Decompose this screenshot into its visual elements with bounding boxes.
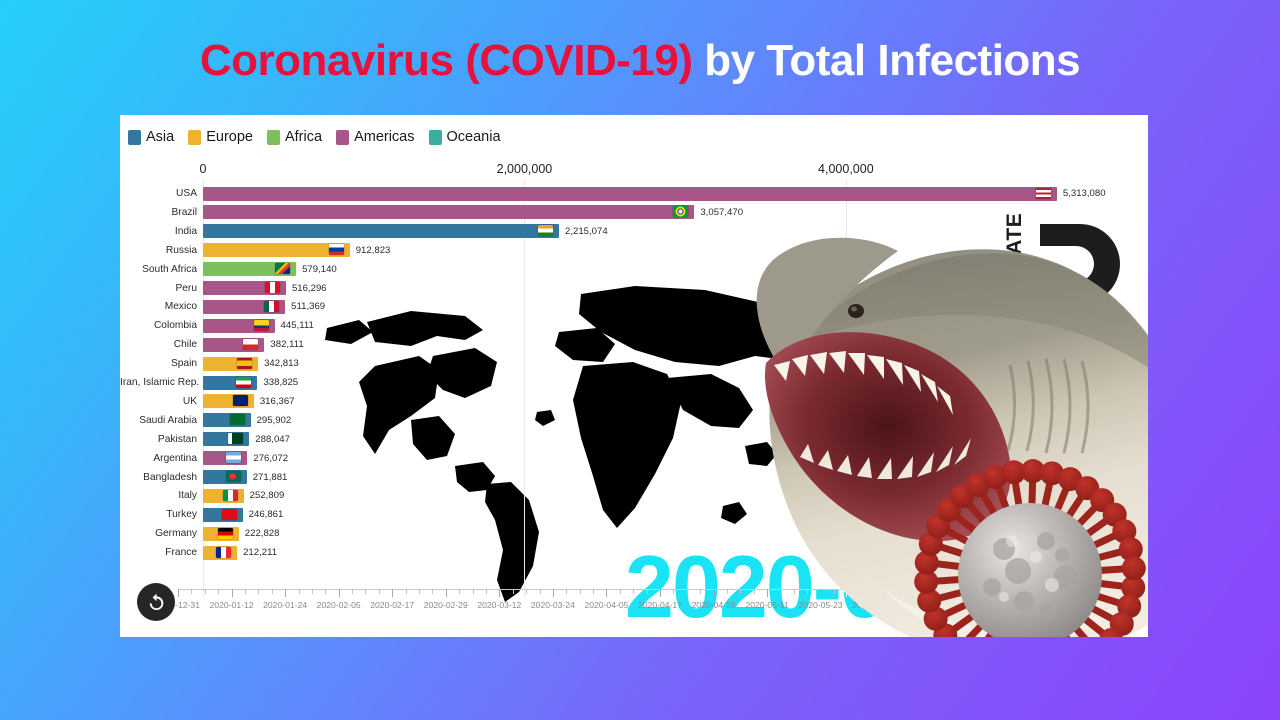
timeline-tick bbox=[1088, 589, 1089, 597]
timeline-label: 2020-07-22 bbox=[1066, 600, 1110, 610]
timeline-minor-tick bbox=[513, 589, 514, 594]
timeline-minor-tick bbox=[272, 589, 273, 594]
country-flag-icon bbox=[329, 244, 344, 255]
bar-value-label: 276,072 bbox=[253, 450, 288, 467]
legend-item-africa[interactable]: Africa bbox=[267, 129, 322, 145]
legend-label: Asia bbox=[146, 129, 174, 145]
bar-row[interactable]: Iran, Islamic Rep.338,825 bbox=[120, 374, 1148, 391]
timeline-tick bbox=[339, 589, 340, 597]
timeline-label: 2020-04-29 bbox=[692, 600, 736, 610]
timeline-label: 2020-04-17 bbox=[638, 600, 682, 610]
bar-row-label: UK bbox=[120, 393, 197, 410]
country-flag-icon bbox=[265, 282, 280, 293]
timeline-minor-tick bbox=[593, 589, 594, 594]
title-highlight: Coronavirus (COVID-19) bbox=[200, 36, 693, 85]
timeline-minor-tick bbox=[1048, 589, 1049, 594]
timeline-label: 2020-06-04 bbox=[852, 600, 896, 610]
bar-value-label: 516,296 bbox=[292, 280, 327, 297]
country-flag-icon bbox=[218, 528, 233, 539]
bar-value-label: 5,313,080 bbox=[1063, 185, 1106, 202]
timeline-minor-tick bbox=[1129, 589, 1130, 594]
bar-row-label: Turkey bbox=[120, 506, 197, 523]
timeline-minor-tick bbox=[365, 589, 366, 594]
bar-row[interactable]: Germany222,828 bbox=[120, 525, 1148, 542]
timeline-label: 2020-08-03 bbox=[1120, 600, 1148, 610]
bar-row-label: South Africa bbox=[120, 261, 197, 278]
country-flag-icon bbox=[223, 490, 238, 501]
country-flag-icon bbox=[236, 377, 251, 388]
timeline-label: 2020-03-12 bbox=[477, 600, 521, 610]
legend-swatch-icon bbox=[429, 130, 442, 145]
timeline-label: 2020-06-16 bbox=[906, 600, 950, 610]
timeline-minor-tick bbox=[245, 589, 246, 594]
timeline-minor-tick bbox=[258, 589, 259, 594]
timeline-label: 2020-02-29 bbox=[424, 600, 468, 610]
timeline-tick bbox=[1035, 589, 1036, 597]
timeline-tick bbox=[606, 589, 607, 597]
title-rest: by Total Infections bbox=[692, 36, 1080, 85]
legend-swatch-icon bbox=[267, 130, 280, 145]
timeline-label: 2020-06-28 bbox=[959, 600, 1003, 610]
timeline-minor-tick bbox=[432, 589, 433, 594]
country-flag-icon bbox=[226, 452, 241, 463]
redate-r-mark bbox=[1020, 222, 1124, 334]
bar-row[interactable]: Argentina276,072 bbox=[120, 450, 1148, 467]
timeline-minor-tick bbox=[299, 589, 300, 594]
timeline-minor-tick bbox=[205, 589, 206, 594]
bar-row-label: Iran, Islamic Rep. bbox=[120, 374, 197, 391]
legend-label: Africa bbox=[285, 129, 322, 145]
chart-panel: 2020-08-05 Total: 19,971,071 AsiaEuropeA… bbox=[120, 115, 1148, 637]
timeline-minor-tick bbox=[1022, 589, 1023, 594]
timeline-label: 2020-01-24 bbox=[263, 600, 307, 610]
timeline-tick bbox=[660, 589, 661, 597]
timeline-minor-tick bbox=[673, 589, 674, 594]
timeline-minor-tick bbox=[847, 589, 848, 594]
bar-row-label: Peru bbox=[120, 280, 197, 297]
timeline-minor-tick bbox=[1115, 589, 1116, 594]
timeline-minor-tick bbox=[526, 589, 527, 594]
bar-row-label: Colombia bbox=[120, 317, 197, 334]
timeline-minor-tick bbox=[191, 589, 192, 594]
x-tick-label: 2,000,000 bbox=[497, 162, 553, 176]
country-flag-icon bbox=[243, 339, 258, 350]
x-tick-label: 4,000,000 bbox=[818, 162, 874, 176]
bar bbox=[203, 243, 350, 257]
timeline-minor-tick bbox=[740, 589, 741, 594]
country-flag-icon bbox=[222, 509, 237, 520]
timeline-minor-tick bbox=[781, 589, 782, 594]
timeline-minor-tick bbox=[647, 589, 648, 594]
timeline-tick bbox=[981, 589, 982, 597]
bar bbox=[203, 224, 559, 238]
timeline-tick bbox=[928, 589, 929, 597]
bar-value-label: 246,861 bbox=[249, 506, 284, 523]
country-flag-icon bbox=[538, 225, 553, 236]
page-title: Coronavirus (COVID-19) by Total Infectio… bbox=[0, 36, 1280, 86]
bar-row[interactable]: USA5,313,080 bbox=[120, 185, 1148, 202]
timeline-minor-tick bbox=[459, 589, 460, 594]
bar-value-label: 579,140 bbox=[302, 261, 337, 278]
timeline-tick bbox=[178, 589, 179, 597]
bar-value-label: 288,047 bbox=[255, 431, 290, 448]
bar-row[interactable]: UK316,367 bbox=[120, 393, 1148, 410]
bar-row[interactable]: Brazil3,057,470 bbox=[120, 204, 1148, 221]
bar-row-label: Spain bbox=[120, 355, 197, 372]
bar-row[interactable]: Italy252,809 bbox=[120, 487, 1148, 504]
timeline-tick bbox=[821, 589, 822, 597]
timeline-minor-tick bbox=[914, 589, 915, 594]
timeline-minor-tick bbox=[1075, 589, 1076, 594]
bar-row-label: India bbox=[120, 223, 197, 240]
timeline-minor-tick bbox=[325, 589, 326, 594]
timeline-minor-tick bbox=[754, 589, 755, 594]
country-flag-icon bbox=[254, 320, 269, 331]
timeline-minor-tick bbox=[580, 589, 581, 594]
timeline-minor-tick bbox=[834, 589, 835, 594]
country-flag-icon bbox=[230, 414, 245, 425]
timeline-tick bbox=[499, 589, 500, 597]
replay-icon bbox=[146, 592, 167, 613]
bar-row-label: Russia bbox=[120, 242, 197, 259]
bar-row-label: Chile bbox=[120, 336, 197, 353]
timeline-tick bbox=[232, 589, 233, 597]
x-tick-label: 0 bbox=[200, 162, 207, 176]
timeline-tick bbox=[392, 589, 393, 597]
legend-item-europe[interactable]: Europe bbox=[188, 129, 253, 145]
timeline-minor-tick bbox=[700, 589, 701, 594]
timeline-minor-tick bbox=[352, 589, 353, 594]
legend-swatch-icon bbox=[128, 130, 141, 145]
bar-row[interactable]: Pakistan288,047 bbox=[120, 431, 1148, 448]
timeline-minor-tick bbox=[379, 589, 380, 594]
timeline-minor-tick bbox=[419, 589, 420, 594]
bar-row-label: Argentina bbox=[120, 450, 197, 467]
bar-row[interactable]: France212,211 bbox=[120, 544, 1148, 561]
bar bbox=[203, 205, 694, 219]
timeline-minor-tick bbox=[1062, 589, 1063, 594]
bar-value-label: 295,902 bbox=[257, 412, 292, 429]
timeline-minor-tick bbox=[566, 589, 567, 594]
bar-row-label: Italy bbox=[120, 487, 197, 504]
timeline-minor-tick bbox=[473, 589, 474, 594]
timeline-minor-tick bbox=[620, 589, 621, 594]
legend-swatch-icon bbox=[188, 130, 201, 145]
bar-row-label: Pakistan bbox=[120, 431, 197, 448]
bar-value-label: 445,111 bbox=[281, 317, 314, 334]
bar-row-label: France bbox=[120, 544, 197, 561]
bar-value-label: 3,057,470 bbox=[700, 204, 743, 221]
timeline-minor-tick bbox=[807, 589, 808, 594]
bar-row[interactable]: Turkey246,861 bbox=[120, 506, 1148, 523]
timeline-label: 2020-02-05 bbox=[317, 600, 361, 610]
timeline-minor-tick bbox=[687, 589, 688, 594]
timeline-axis: 2019-12-312020-01-122020-01-242020-02-05… bbox=[120, 589, 1148, 623]
country-flag-icon bbox=[673, 206, 688, 217]
country-flag-icon bbox=[233, 395, 248, 406]
country-flag-icon bbox=[1036, 188, 1051, 199]
timeline-minor-tick bbox=[727, 589, 728, 594]
timeline-minor-tick bbox=[312, 589, 313, 594]
country-flag-icon bbox=[216, 547, 231, 558]
bar-row[interactable]: Saudi Arabia295,902 bbox=[120, 412, 1148, 429]
timeline-minor-tick bbox=[1008, 589, 1009, 594]
legend-label: Americas bbox=[354, 129, 414, 145]
bar-value-label: 2,215,074 bbox=[565, 223, 608, 240]
timeline-minor-tick bbox=[968, 589, 969, 594]
timeline-minor-tick bbox=[633, 589, 634, 594]
timeline-tick bbox=[1142, 589, 1143, 597]
timeline-label: 2020-07-10 bbox=[1013, 600, 1057, 610]
bar-row-label: Brazil bbox=[120, 204, 197, 221]
timeline-minor-tick bbox=[901, 589, 902, 594]
timeline-label: 2020-01-12 bbox=[210, 600, 254, 610]
bar bbox=[203, 187, 1057, 201]
timeline-label: 2020-05-23 bbox=[799, 600, 843, 610]
bar-value-label: 252,809 bbox=[250, 487, 285, 504]
timeline-minor-tick bbox=[486, 589, 487, 594]
timeline-minor-tick bbox=[406, 589, 407, 594]
timeline-label: 2020-03-24 bbox=[531, 600, 575, 610]
timeline-minor-tick bbox=[540, 589, 541, 594]
virus-spike bbox=[1065, 636, 1082, 637]
redate-logo: reDATE bbox=[982, 220, 1132, 335]
timeline-minor-tick bbox=[888, 589, 889, 594]
legend-item-oceania[interactable]: Oceania bbox=[429, 129, 501, 145]
bar-row[interactable]: Bangladesh271,881 bbox=[120, 469, 1148, 486]
country-flag-icon bbox=[228, 433, 243, 444]
timeline-tick bbox=[553, 589, 554, 597]
timeline-minor-tick bbox=[1102, 589, 1103, 594]
timeline-minor-tick bbox=[218, 589, 219, 594]
timeline-minor-tick bbox=[995, 589, 996, 594]
bar-value-label: 338,825 bbox=[263, 374, 298, 391]
bar-row[interactable]: Spain342,813 bbox=[120, 355, 1148, 372]
legend-label: Europe bbox=[206, 129, 253, 145]
country-flag-icon bbox=[237, 358, 252, 369]
timeline-label: 2020-05-11 bbox=[745, 600, 788, 610]
bar-value-label: 316,367 bbox=[260, 393, 295, 410]
country-flag-icon bbox=[275, 263, 290, 274]
timeline-tick bbox=[446, 589, 447, 597]
bar-row[interactable]: Chile382,111 bbox=[120, 336, 1148, 353]
bar-value-label: 382,111 bbox=[270, 336, 303, 353]
country-flag-icon bbox=[226, 471, 241, 482]
bar-row-label: Saudi Arabia bbox=[120, 412, 197, 429]
bar-value-label: 212,211 bbox=[243, 544, 277, 561]
chart-legend: AsiaEuropeAfricaAmericasOceania bbox=[128, 129, 501, 145]
bar-value-label: 222,828 bbox=[245, 525, 280, 542]
timeline-tick bbox=[874, 589, 875, 597]
replay-button[interactable] bbox=[137, 583, 175, 621]
bar-value-label: 271,881 bbox=[253, 469, 288, 486]
timeline-minor-tick bbox=[861, 589, 862, 594]
timeline-minor-tick bbox=[941, 589, 942, 594]
timeline-minor-tick bbox=[794, 589, 795, 594]
bar-row-label: Germany bbox=[120, 525, 197, 542]
bar-value-label: 511,369 bbox=[291, 298, 325, 315]
bar-row-label: USA bbox=[120, 185, 197, 202]
timeline-tick bbox=[767, 589, 768, 597]
bar-row-label: Bangladesh bbox=[120, 469, 197, 486]
timeline-tick bbox=[285, 589, 286, 597]
bar-value-label: 912,823 bbox=[356, 242, 391, 259]
timeline-label: 2020-02-17 bbox=[370, 600, 414, 610]
legend-item-asia[interactable]: Asia bbox=[128, 129, 174, 145]
legend-item-americas[interactable]: Americas bbox=[336, 129, 414, 145]
timeline-minor-tick bbox=[955, 589, 956, 594]
legend-swatch-icon bbox=[336, 130, 349, 145]
legend-label: Oceania bbox=[447, 129, 501, 145]
bar-value-label: 342,813 bbox=[264, 355, 299, 372]
bar-row-label: Mexico bbox=[120, 298, 197, 315]
timeline-tick bbox=[714, 589, 715, 597]
country-flag-icon bbox=[264, 301, 279, 312]
timeline-label: 2020-04-05 bbox=[584, 600, 628, 610]
